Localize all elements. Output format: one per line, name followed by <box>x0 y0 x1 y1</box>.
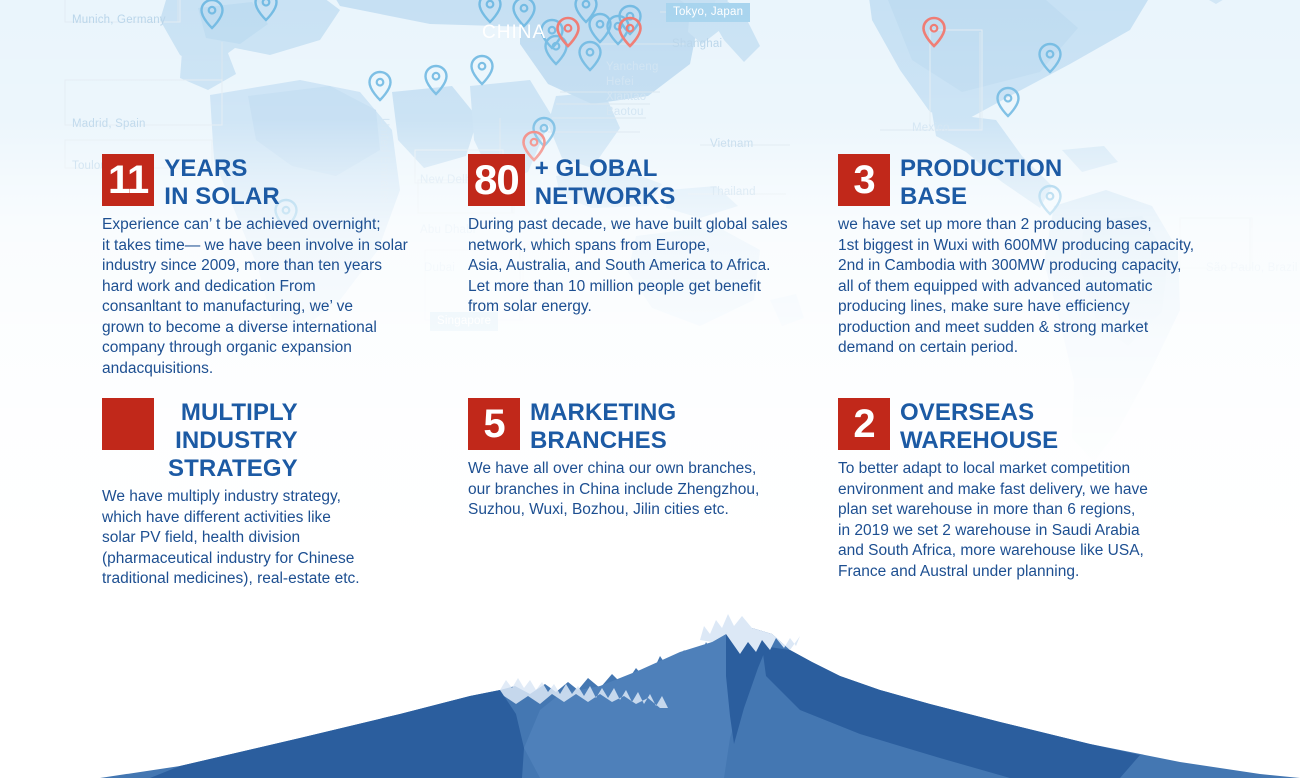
stat-body: We have multiply industry strategy, whic… <box>102 487 432 590</box>
stat-title-text: GLOBAL NETWORKS <box>535 155 676 210</box>
stat-number-badge: 11 <box>102 154 154 206</box>
stat-block-multiply-industry-strategy: MULTIPLY INDUSTRY STRATEGY We have multi… <box>102 398 432 590</box>
stat-header: 5 MARKETING BRANCHES <box>468 398 798 455</box>
stat-title: MARKETING BRANCHES <box>530 398 676 455</box>
stat-title: YEARS IN SOLAR <box>164 154 279 211</box>
stat-header: 2 OVERSEAS WAREHOUSE <box>838 398 1198 455</box>
stat-number-badge: 5 <box>468 398 520 450</box>
stat-body: During past decade, we have built global… <box>468 215 818 318</box>
stat-number-badge: 3 <box>838 154 890 206</box>
mountain-svg <box>0 598 1300 778</box>
mountain-center-ridge <box>524 628 758 778</box>
stat-block-years-in-solar: 11 YEARS IN SOLAR Experience can’ t be a… <box>102 154 442 379</box>
stat-header: 3 PRODUCTION BASE <box>838 154 1238 211</box>
stat-body: We have all over china our own branches,… <box>468 459 798 521</box>
stat-title: MULTIPLY INDUSTRY STRATEGY <box>168 398 298 483</box>
stat-title: OVERSEAS WAREHOUSE <box>900 398 1058 455</box>
stat-block-global-networks: 80 + GLOBAL NETWORKS During past decade,… <box>468 154 818 318</box>
mountain-left-shadow <box>150 690 524 778</box>
stat-header: MULTIPLY INDUSTRY STRATEGY <box>102 398 432 483</box>
stat-block-marketing-branches: 5 MARKETING BRANCHES We have all over ch… <box>468 398 798 521</box>
stats-grid: 11 YEARS IN SOLAR Experience can’ t be a… <box>0 0 1300 620</box>
stat-header: 80 + GLOBAL NETWORKS <box>468 154 818 211</box>
stat-body: Experience can’ t be achieved overnight;… <box>102 215 442 379</box>
stat-header: 11 YEARS IN SOLAR <box>102 154 442 211</box>
mountain-illustration <box>0 598 1300 778</box>
stat-title: + GLOBAL NETWORKS <box>535 154 676 211</box>
stat-body: To better adapt to local market competit… <box>838 459 1198 582</box>
stat-title: PRODUCTION BASE <box>900 154 1062 211</box>
stat-number-badge: 2 <box>838 398 890 450</box>
stat-number-badge: 80 <box>468 154 525 206</box>
stat-block-production-base: 3 PRODUCTION BASE we have set up more th… <box>838 154 1238 359</box>
stat-number-badge <box>102 398 154 450</box>
stat-body: we have set up more than 2 producing bas… <box>838 215 1238 359</box>
stat-title-prefix: + <box>535 155 556 182</box>
stat-block-overseas-warehouse: 2 OVERSEAS WAREHOUSE To better adapt to … <box>838 398 1198 582</box>
